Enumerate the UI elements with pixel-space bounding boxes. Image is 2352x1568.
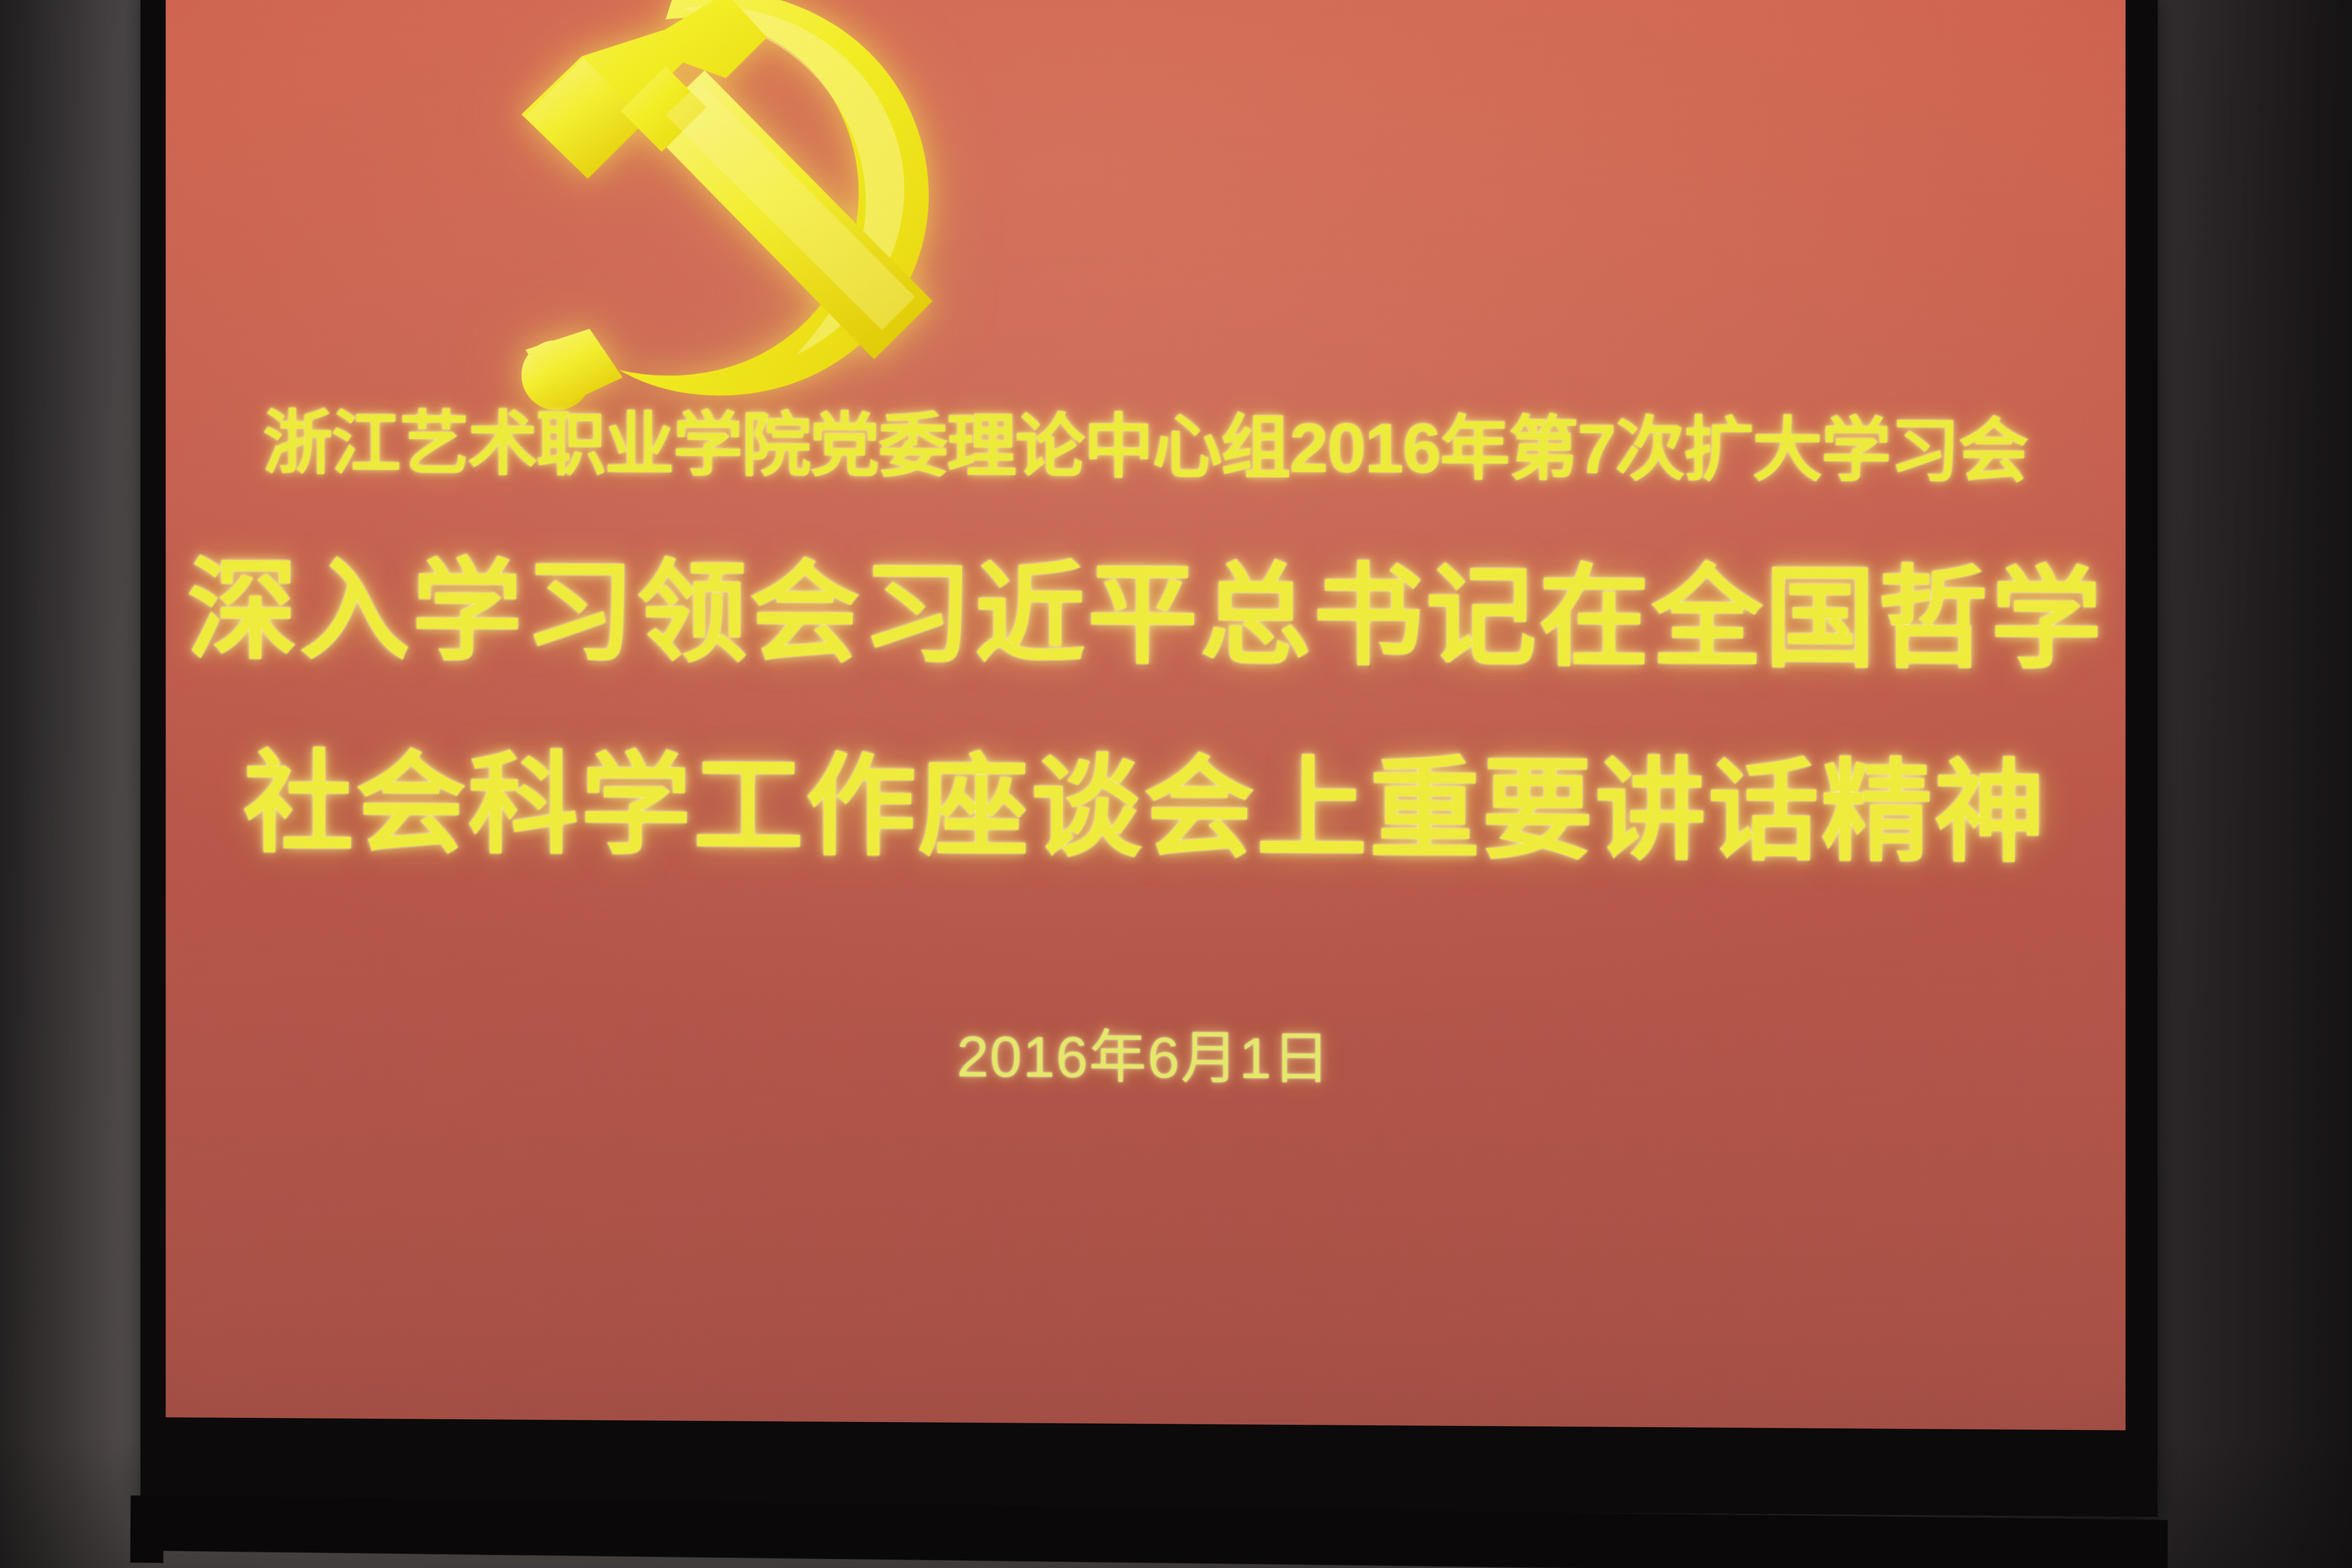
slide-title-line-1: 深入学习领会习近平总书记在全国哲学: [166, 556, 2126, 676]
slide-text-block: 浙江艺术职业学院党委理论中心组2016年第7次扩大学习会 深入学习领会习近平总书…: [166, 402, 2126, 1092]
slide-title-line-2: 社会科学工作座谈会上重要讲话精神: [166, 748, 2126, 869]
slide-date: 2016年6月1日: [166, 1023, 2126, 1092]
projection-screen-frame: 浙江艺术职业学院党委理论中心组2016年第7次扩大学习会 深入学习领会习近平总书…: [140, 0, 2158, 1517]
projected-slide-surface: 浙江艺术职业学院党委理论中心组2016年第7次扩大学习会 深入学习领会习近平总书…: [166, 0, 2126, 1430]
wall-shadow-left: [0, 0, 149, 1568]
room-background: 浙江艺术职业学院党委理论中心组2016年第7次扩大学习会 深入学习领会习近平总书…: [0, 0, 2352, 1568]
cpc-hammer-and-sickle-emblem: [474, 0, 982, 428]
slide-header-line: 浙江艺术职业学院党委理论中心组2016年第7次扩大学习会: [166, 402, 2126, 493]
